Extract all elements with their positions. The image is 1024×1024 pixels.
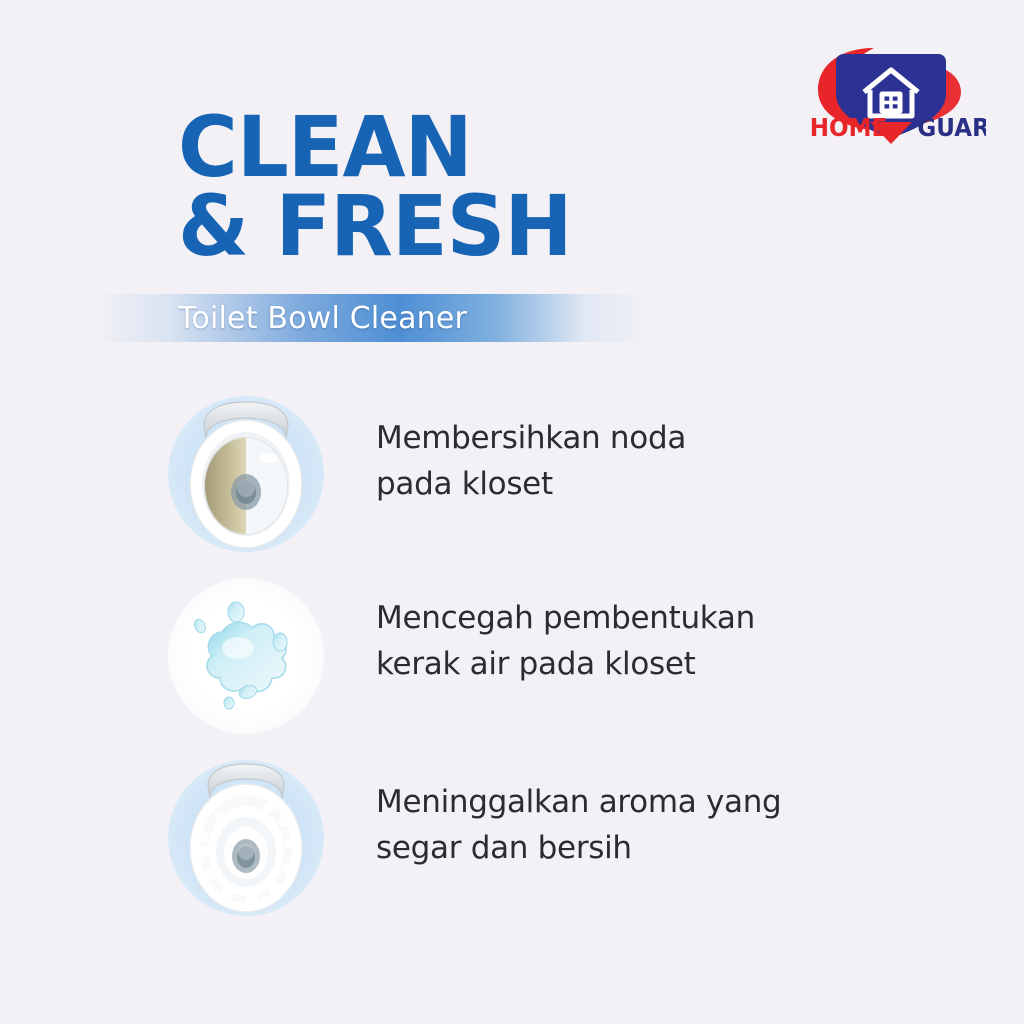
feature-text: Mencegah pembentukan kerak air pada klos… [376, 596, 916, 687]
feature-text-line-2: kerak air pada kloset [376, 642, 916, 688]
feature-text-line-2: segar dan bersih [376, 826, 916, 872]
page-title: CLEAN & FRESH [178, 108, 572, 266]
water-droplet-splash-icon [160, 570, 332, 742]
logo-word-guard: GUARD [917, 113, 986, 142]
toilet-bowl-clean-icon [160, 752, 332, 924]
home-guard-logo-mark: HOME GUARD [796, 38, 986, 146]
feature-text-line-2: pada kloset [376, 462, 916, 508]
product-feature-poster: { "background_color": "#f3f1f6", "brand"… [0, 0, 1024, 1024]
feature-text-line-1: Meninggalkan aroma yang [376, 780, 916, 826]
list-item: Mencegah pembentukan kerak air pada klos… [160, 570, 920, 746]
subtitle-label: Toilet Bowl Cleaner [178, 298, 738, 340]
headline-line-2: & FRESH [178, 187, 572, 266]
feature-list: Membersihkan noda pada kloset [160, 388, 920, 934]
logo-word-home: HOME [810, 113, 887, 142]
headline-line-1: CLEAN [178, 108, 572, 187]
toilet-bowl-stained-icon [160, 388, 332, 560]
feature-text-line-1: Mencegah pembentukan [376, 596, 916, 642]
list-item: Membersihkan noda pada kloset [160, 388, 920, 564]
brand-logo: HOME GUARD [796, 38, 986, 146]
feature-text-line-1: Membersihkan noda [376, 416, 916, 462]
list-item: Meninggalkan aroma yang segar dan bersih [160, 752, 920, 928]
feature-text: Membersihkan noda pada kloset [376, 416, 916, 507]
feature-text: Meninggalkan aroma yang segar dan bersih [376, 780, 916, 871]
